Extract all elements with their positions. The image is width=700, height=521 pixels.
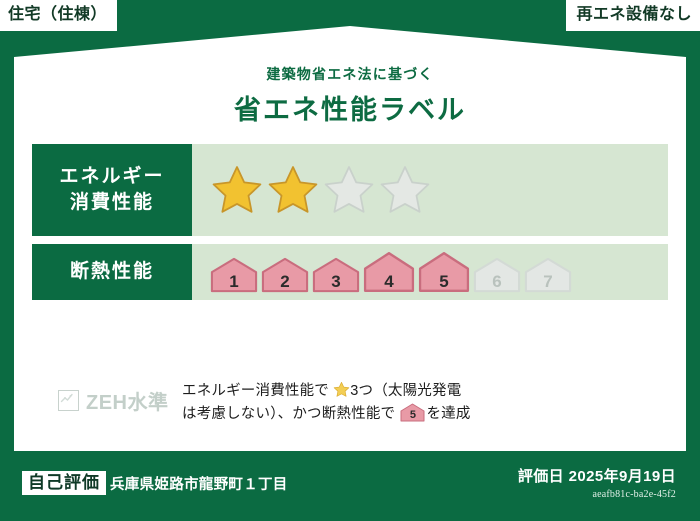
energy-performance-label: 住宅（住棟） 再エネ設備なし 建築物省エネ法に基づく 省エネ性能ラベル エネルギ… (0, 0, 700, 521)
energy-performance-label: エネルギー 消費性能 (32, 144, 192, 236)
label-card: 建築物省エネ法に基づく 省エネ性能ラベル エネルギー 消費性能 断熱性能 (14, 26, 686, 451)
property-address: 兵庫県姫路市龍野町１丁目 (110, 473, 288, 494)
insulation-grade-badge: 5 (418, 251, 470, 293)
energy-label-line2: 消費性能 (70, 190, 154, 216)
building-type-tab: 住宅（住棟） (0, 0, 117, 31)
insulation-grade-value: 5 (418, 273, 470, 290)
insulation-performance-body: 1234567 (192, 244, 668, 300)
energy-performance-row: エネルギー 消費性能 (32, 144, 668, 236)
description-line1-after: 3つ（太陽光発電 (350, 383, 461, 399)
inline-star-icon (333, 381, 350, 398)
insulation-grade-badge: 1 (210, 257, 258, 293)
achievement-description: エネルギー消費性能で 3つ（太陽光発電 は考慮しない）、かつ断熱性能で 5 を達… (182, 374, 668, 427)
inline-grade-badge-value: 5 (400, 410, 425, 421)
evaluation-id: aeafb81c-ba2e-45f2 (518, 489, 676, 500)
insulation-grade-value: 4 (363, 273, 415, 290)
insulation-grade-badge: 7 (524, 257, 572, 293)
insulation-performance-label: 断熱性能 (32, 244, 192, 300)
insulation-grade-badge: 4 (363, 251, 415, 293)
insulation-grade-badge: 2 (261, 257, 309, 293)
description-line2-after: を達成 (426, 406, 470, 422)
insulation-grade-badge: 6 (473, 257, 521, 293)
insulation-grade-value: 2 (261, 273, 309, 290)
zeh-checkbox-icon (58, 390, 79, 411)
star-rating (210, 163, 432, 217)
star-filled-icon (266, 163, 320, 217)
explanation-area: ZEH水準 エネルギー消費性能で 3つ（太陽光発電 は考慮しない）、かつ断熱性能… (32, 374, 668, 427)
insulation-performance-row: 断熱性能 1234567 (32, 244, 668, 300)
star-empty-icon (378, 163, 432, 217)
description-line2-before: は考慮しない）、かつ断熱性能で (182, 406, 395, 422)
zeh-label: ZEH水準 (86, 386, 169, 415)
label-footer: 自己評価 兵庫県姫路市龍野町１丁目 評価日 2025年9月19日 aeafb81… (0, 451, 700, 521)
renewable-equipment-tab: 再エネ設備なし (566, 0, 700, 31)
insulation-grade-value: 7 (524, 273, 572, 290)
energy-performance-body (192, 144, 668, 236)
zeh-standard-indicator: ZEH水準 (32, 374, 182, 415)
description-line1-before: エネルギー消費性能で (182, 383, 329, 399)
insulation-grade-value: 3 (312, 273, 360, 290)
star-empty-icon (322, 163, 376, 217)
self-evaluation-badge: 自己評価 (22, 471, 106, 495)
insulation-grade-value: 1 (210, 273, 258, 290)
performance-rows: エネルギー 消費性能 断熱性能 1234567 (32, 144, 668, 308)
insulation-label-text: 断熱性能 (70, 259, 154, 285)
inline-grade-badge: 5 (400, 403, 425, 422)
title-subtitle: 建築物省エネ法に基づく (14, 64, 686, 84)
insulation-grade-scale: 1234567 (210, 251, 572, 293)
footer-left-group: 自己評価 兵庫県姫路市龍野町１丁目 (22, 471, 288, 495)
star-filled-icon (210, 163, 264, 217)
insulation-grade-badge: 3 (312, 257, 360, 293)
insulation-grade-value: 6 (473, 273, 521, 290)
title-block: 建築物省エネ法に基づく 省エネ性能ラベル (14, 64, 686, 127)
evaluation-date: 評価日 2025年9月19日 (518, 465, 676, 486)
energy-label-line1: エネルギー (59, 164, 164, 190)
footer-right-group: 評価日 2025年9月19日 aeafb81c-ba2e-45f2 (518, 465, 676, 500)
page-title: 省エネ性能ラベル (14, 88, 686, 127)
